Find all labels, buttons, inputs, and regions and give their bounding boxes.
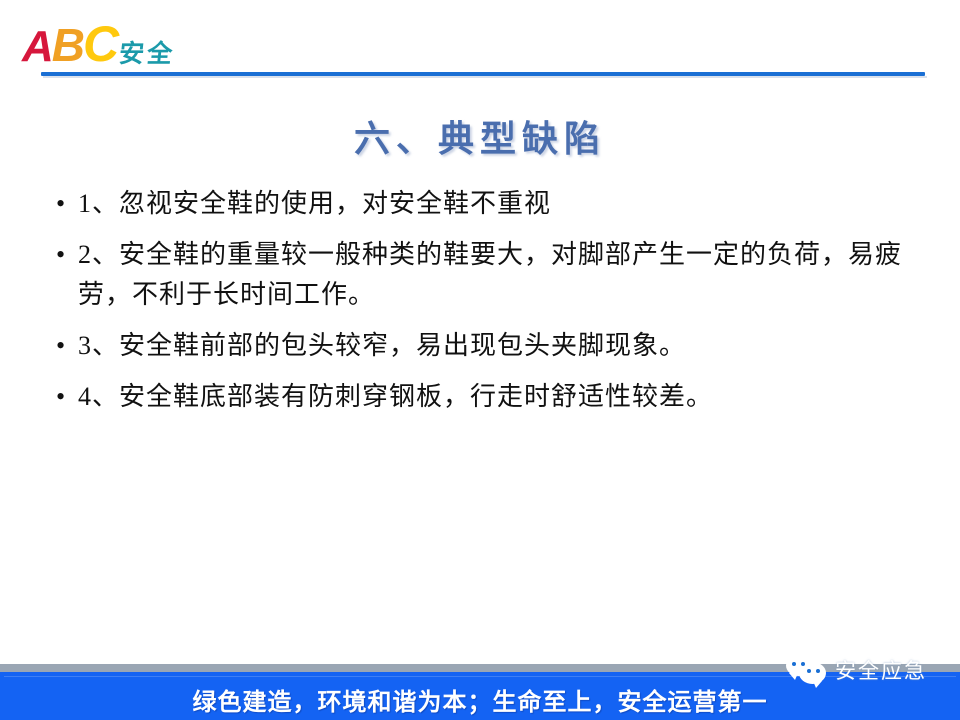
logo-abc-letters: ABC [22, 21, 117, 70]
logo-chinese-text: 安全 [118, 42, 177, 67]
wechat-eye [807, 669, 811, 673]
bullet-dot-icon: • [56, 184, 76, 224]
list-item-text: 2、安全鞋的重量较一般种类的鞋要大，对脚部产生一定的负荷，易疲劳，不利于长时间工… [76, 235, 926, 315]
slide: ABC 安全 六、典型缺陷 • 1、忽视安全鞋的使用，对安全鞋不重视 • 2、安… [0, 0, 960, 720]
header-divider [41, 72, 925, 76]
list-item: • 3、安全鞋前部的包头较窄，易出现包头夹脚现象。 [56, 326, 926, 366]
list-item-text: 3、安全鞋前部的包头较窄，易出现包头夹脚现象。 [76, 326, 926, 366]
list-item-text: 1、忽视安全鞋的使用，对安全鞋不重视 [76, 184, 926, 224]
bullet-dot-icon: • [56, 377, 76, 417]
logo-letter-b: B [52, 19, 83, 71]
wechat-eye [792, 662, 796, 666]
wechat-eye [801, 662, 805, 666]
header-divider-shadow [43, 76, 927, 78]
bullet-dot-icon: • [56, 326, 76, 366]
list-item: • 1、忽视安全鞋的使用，对安全鞋不重视 [56, 184, 926, 224]
bullet-dot-icon: • [56, 235, 76, 275]
logo-letter-a: A [22, 22, 52, 71]
wechat-eye [816, 669, 820, 673]
watermark-label: 安全应急 [835, 655, 927, 685]
wechat-icon [786, 655, 828, 685]
page-title: 六、典型缺陷 [0, 110, 960, 162]
brand-logo: ABC 安全 [22, 14, 175, 70]
list-item: • 2、安全鞋的重量较一般种类的鞋要大，对脚部产生一定的负荷，易疲劳，不利于长时… [56, 235, 926, 315]
list-item-text: 4、安全鞋底部装有防刺穿钢板，行走时舒适性较差。 [76, 377, 926, 417]
watermark: 安全应急 [786, 655, 927, 685]
list-item: • 4、安全鞋底部装有防刺穿钢板，行走时舒适性较差。 [56, 377, 926, 417]
logo-letter-c: C [83, 16, 117, 72]
bullet-list: • 1、忽视安全鞋的使用，对安全鞋不重视 • 2、安全鞋的重量较一般种类的鞋要大… [56, 184, 926, 428]
